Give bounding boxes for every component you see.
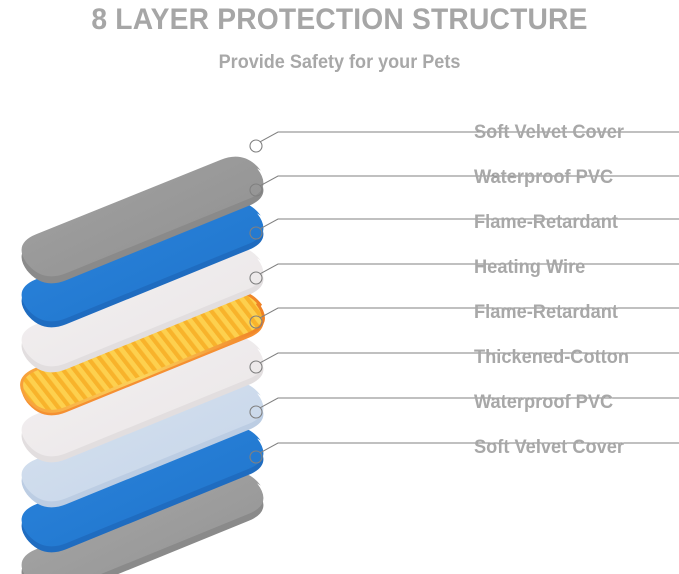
layer-label-8: Soft Velvet Cover	[474, 437, 624, 459]
layer-labels: Soft Velvet CoverWaterproof PVCFlame-Ret…	[0, 0, 679, 574]
layer-label-6: Thickened-Cotton	[474, 347, 629, 369]
layer-label-5: Flame-Retardant	[474, 302, 618, 324]
layer-label-3: Flame-Retardant	[474, 212, 618, 234]
layer-label-7: Waterproof PVC	[474, 392, 613, 414]
layer-label-2: Waterproof PVC	[474, 167, 613, 189]
layer-label-1: Soft Velvet Cover	[474, 122, 624, 144]
layer-label-4: Heating Wire	[474, 257, 585, 279]
